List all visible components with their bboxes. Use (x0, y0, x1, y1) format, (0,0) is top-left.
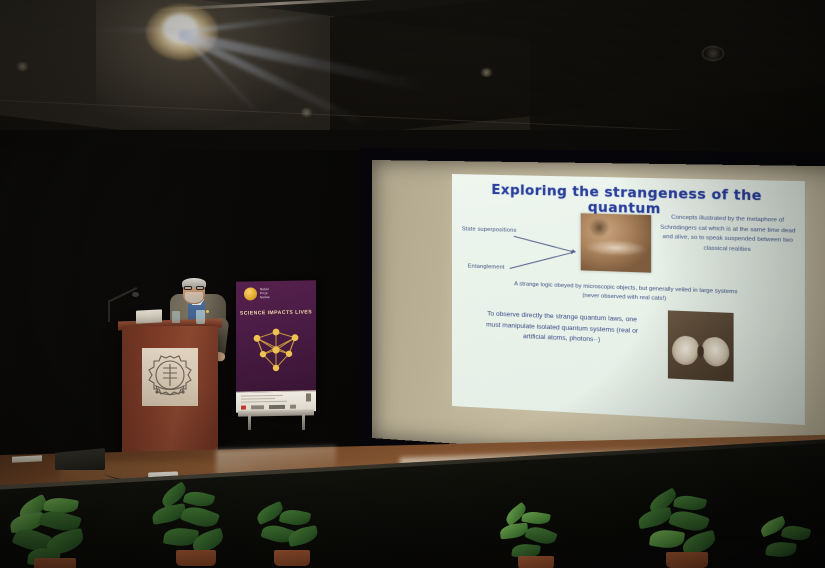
plant-leaf (765, 540, 796, 558)
sponsor-text-line (241, 395, 283, 397)
water-glass (172, 311, 180, 323)
sponsor-logo (241, 406, 246, 410)
ceiling-light-fixture (16, 62, 29, 71)
slide-label-entanglement: Entanglement (468, 264, 505, 271)
potted-plant (150, 488, 258, 568)
slide-right-paragraph: Concepts illustrated by the metaphore of… (660, 213, 797, 257)
potted-plant (496, 508, 596, 568)
nobel-logo-text: Nobel Prize Series (260, 287, 270, 300)
slide-middle-text: A strange logic obeyed by microscopic ob… (458, 278, 798, 308)
water-glass (196, 310, 205, 324)
plant-pot (518, 556, 554, 568)
glasses-lens-right (196, 286, 204, 290)
nobel-logo-line3: Series (260, 295, 270, 299)
potted-plant (250, 506, 346, 568)
sponsor-mark-icon (306, 393, 311, 401)
banner-foot (248, 414, 251, 430)
sponsor-logo (290, 405, 296, 409)
plant-leaf (673, 493, 707, 513)
sponsor-text-line (241, 398, 275, 400)
plant-pot (176, 550, 216, 566)
plant-leaf (287, 525, 320, 547)
rollup-banner: Nobel Prize Series SCIENCE IMPACTS LIVES (236, 280, 316, 412)
superconducting-cavity-photo (668, 310, 734, 381)
sponsor-logo (251, 405, 264, 409)
potted-plant (756, 520, 825, 568)
potted-plant (636, 494, 756, 568)
slide-arrow-superposition (514, 236, 575, 253)
presentation-slide: Exploring the strangeness of the quantum… (452, 174, 805, 425)
sponsor-text-line (241, 401, 287, 403)
nobel-medal-icon (244, 287, 257, 300)
microphone-stem (108, 300, 110, 322)
plant-leaf (781, 523, 812, 543)
ceiling-light-fixture (702, 46, 724, 61)
ceiling-light-fixture (480, 68, 493, 77)
microphone-icon (132, 292, 139, 297)
ceiling-light-fixture (300, 108, 313, 117)
plant-leaf (637, 507, 674, 530)
auditorium-photo-scene: Exploring the strangeness of the quantum… (0, 0, 825, 568)
cavity-mirror-left (669, 333, 701, 367)
cavity-mirror-right (700, 335, 732, 368)
sponsor-logo (269, 405, 285, 409)
glasses-lens-left (184, 286, 192, 290)
plant-pot (666, 552, 708, 568)
speaker-lapel-badge (206, 310, 209, 313)
speaker-beard (185, 292, 203, 303)
glasses-icon (184, 286, 204, 290)
potted-plant (10, 498, 118, 568)
schrodinger-cat-photo (581, 213, 651, 272)
plant-leaf (649, 528, 685, 551)
cavity-gap (697, 346, 704, 357)
nobel-prize-series-logo: Nobel Prize Series (244, 285, 306, 301)
lens-flare-ray (83, 28, 178, 32)
banner-foot (302, 414, 305, 430)
podium-laptop (136, 309, 162, 323)
plant-pot (274, 550, 310, 566)
slide-arrow-entanglement (510, 252, 575, 269)
molecular-network-graphic (245, 321, 307, 384)
podium (122, 326, 218, 462)
slide-bottom-paragraph: To observe directly the strange quantum … (482, 309, 643, 348)
plant-leaf (279, 507, 311, 528)
plant-pot (34, 558, 76, 568)
slide-label-superposition: State superpositions (462, 226, 517, 234)
banner-tagline: SCIENCE IMPACTS LIVES (236, 309, 316, 316)
iit-gear-emblem-icon (142, 348, 198, 406)
plant-leaf (183, 489, 215, 510)
plant-leaf (180, 502, 220, 531)
